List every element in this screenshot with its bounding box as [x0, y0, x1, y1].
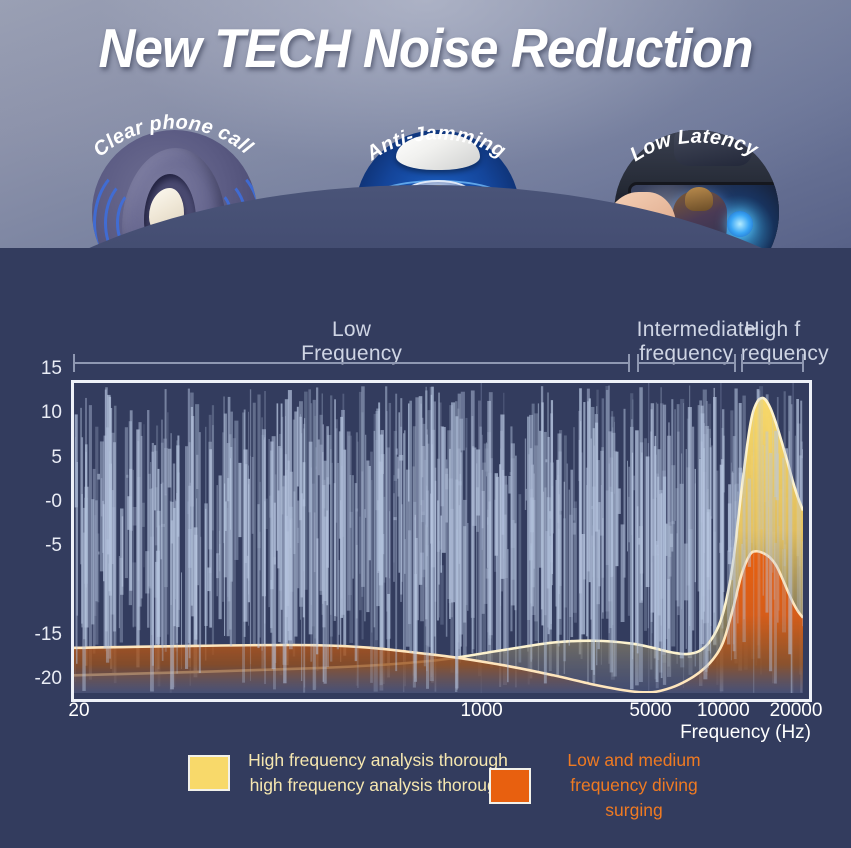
- x-tick-label: 20000: [770, 700, 823, 722]
- band-bracket: [73, 362, 630, 364]
- legend-swatch: [188, 755, 230, 791]
- band-cap-left: [73, 354, 75, 372]
- band-bracket: [637, 362, 736, 364]
- y-tick-label: -20: [4, 668, 62, 690]
- page-title: New TECH Noise Reduction: [30, 16, 821, 80]
- band-high-frequency: High f requency: [741, 318, 804, 380]
- y-tick-label: -15: [4, 624, 62, 646]
- band-cap-left: [741, 354, 743, 372]
- band-cap-right: [734, 354, 736, 372]
- x-tick-label: 1000: [460, 700, 502, 722]
- legend-swatch: [489, 768, 531, 804]
- plot-area: [71, 380, 812, 702]
- y-tick-label: 15: [4, 358, 62, 380]
- y-tick-label: -5: [4, 535, 62, 557]
- legend-item-high-frequency: High frequency analysis thorough high fr…: [188, 748, 512, 798]
- y-tick-label: 10: [4, 402, 62, 424]
- band-cap-right: [628, 354, 630, 372]
- poster-root: New TECH Noise Reduction Clear phone cal…: [0, 0, 851, 848]
- band-label-line1: High f: [744, 318, 800, 341]
- band-cap-right: [802, 354, 804, 372]
- plot-svg: [74, 383, 803, 693]
- band-label-line1: Low: [332, 318, 371, 341]
- band-cap-left: [637, 354, 639, 372]
- band-low-frequency: Low Frequency: [73, 318, 630, 380]
- frequency-band-header: Low Frequency Intermediate frequency Hig…: [0, 318, 851, 380]
- x-tick-label: 20: [68, 700, 89, 722]
- x-tick-label: 10000: [697, 700, 750, 722]
- x-axis-title: Frequency (Hz): [680, 722, 811, 744]
- frequency-response-chart: Low Frequency Intermediate frequency Hig…: [0, 318, 851, 758]
- legend-item-low-medium-frequency: Low and medium frequency diving surging: [489, 748, 723, 823]
- x-tick-label: 5000: [629, 700, 671, 722]
- band-label-line1: Intermediate: [637, 318, 756, 341]
- chart-legend: High frequency analysis thorough high fr…: [0, 748, 851, 848]
- y-tick-label: 5: [4, 447, 62, 469]
- band-bracket: [741, 362, 804, 364]
- band-intermediate-frequency: Intermediate frequency: [637, 318, 736, 380]
- legend-label: High frequency analysis thorough high fr…: [244, 748, 512, 798]
- y-tick-label: -0: [4, 491, 62, 513]
- legend-label: Low and medium frequency diving surging: [545, 748, 723, 823]
